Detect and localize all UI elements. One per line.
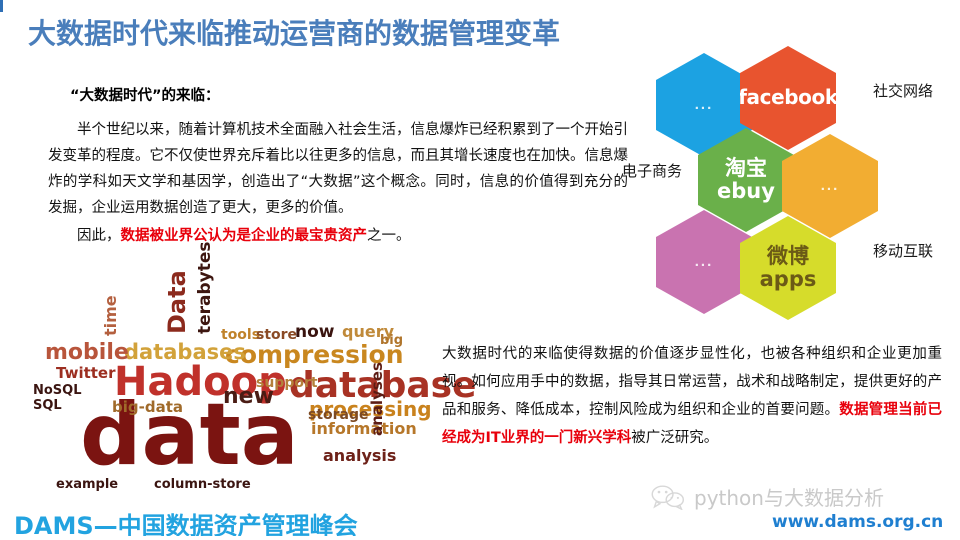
wechat-account-name: python与大数据分析 — [694, 482, 884, 511]
hexagon-blue-label: ... — [695, 97, 714, 113]
left-edge-accent — [0, 0, 3, 12]
hexagon-ebuy-label: ebuy — [717, 180, 775, 203]
word-cloud-term: support — [256, 376, 318, 390]
wechat-account-row: python与大数据分析 — [650, 482, 884, 511]
word-cloud-term: Twitter — [56, 366, 116, 381]
label-social-network: 社交网络 — [873, 80, 933, 101]
word-cloud-term: now — [295, 324, 335, 341]
word-cloud-term: NoSQL — [33, 384, 82, 397]
word-cloud-term: information — [311, 421, 417, 437]
label-mobile-internet: 移动互联 — [873, 240, 933, 261]
dams-website-url[interactable]: www.dams.org.cn — [772, 512, 943, 532]
hexagon-apps-label: apps — [760, 268, 817, 291]
wechat-icon — [650, 484, 686, 510]
intro-paragraph-1: 半个世纪以来，随着计算机技术全面融入社会生活，信息爆炸已经积累到了一个开始引发变… — [48, 117, 628, 221]
page-title: 大数据时代来临推动运营商的数据管理变革 — [28, 12, 560, 52]
intro-heading: “大数据时代”的来临： — [70, 84, 628, 105]
word-cloud-term: mobile — [45, 342, 129, 364]
word-cloud-term: big — [380, 334, 403, 347]
hexagon-taobao-label: 淘宝 — [725, 157, 767, 180]
word-cloud-term: analyses — [370, 362, 385, 436]
label-ecommerce: 电子商务 — [622, 160, 682, 181]
conclusion-suffix: 之一。 — [367, 228, 411, 244]
word-cloud-image: dataHadoopdatabasecompressiondatabasespr… — [18, 306, 438, 506]
word-cloud-term: example — [56, 478, 118, 491]
word-cloud-term: big-data — [112, 400, 183, 415]
word-cloud-term: store — [256, 328, 297, 342]
word-cloud-term: time — [103, 295, 119, 336]
word-cloud-term: databases — [124, 342, 246, 363]
word-cloud-term: storage — [308, 408, 369, 422]
slide-canvas: 大数据时代来临推动运营商的数据管理变革 “大数据时代”的来临： 半个世纪以来，随… — [0, 0, 960, 540]
word-cloud-term: Data — [165, 270, 189, 334]
conclusion-highlight: 数据被业界公认为是企业的最宝贵资产 — [121, 228, 368, 244]
hexagon-facebook-label: facebook — [738, 87, 838, 109]
hexagon-purple-label: ... — [695, 254, 714, 270]
analysis-part-2: 被广泛研究。 — [631, 430, 718, 446]
word-cloud-term: tools — [221, 328, 260, 342]
intro-paragraph-2: 因此，数据被业界公认为是企业的最宝贵资产之一。 — [48, 223, 628, 249]
dams-brand-logo: DAMS—中国数据资产管理峰会 — [14, 506, 358, 536]
analysis-paragraph: 大数据时代的来临使得数据的价值逐步显性化，也被各种组织和企业更加重视。如何应用手… — [442, 340, 942, 452]
word-cloud-term: terabytes — [197, 241, 214, 334]
word-cloud-term: SQL — [33, 399, 62, 412]
hexagon-weibo-label: 微博 — [767, 245, 809, 268]
hexagon-amber-label: ... — [821, 178, 840, 194]
conclusion-prefix: 因此， — [77, 228, 121, 244]
word-cloud-term: analysis — [323, 448, 396, 464]
intro-text-block: “大数据时代”的来临： 半个世纪以来，随着计算机技术全面融入社会生活，信息爆炸已… — [48, 84, 628, 249]
word-cloud-term: column-store — [154, 478, 251, 491]
